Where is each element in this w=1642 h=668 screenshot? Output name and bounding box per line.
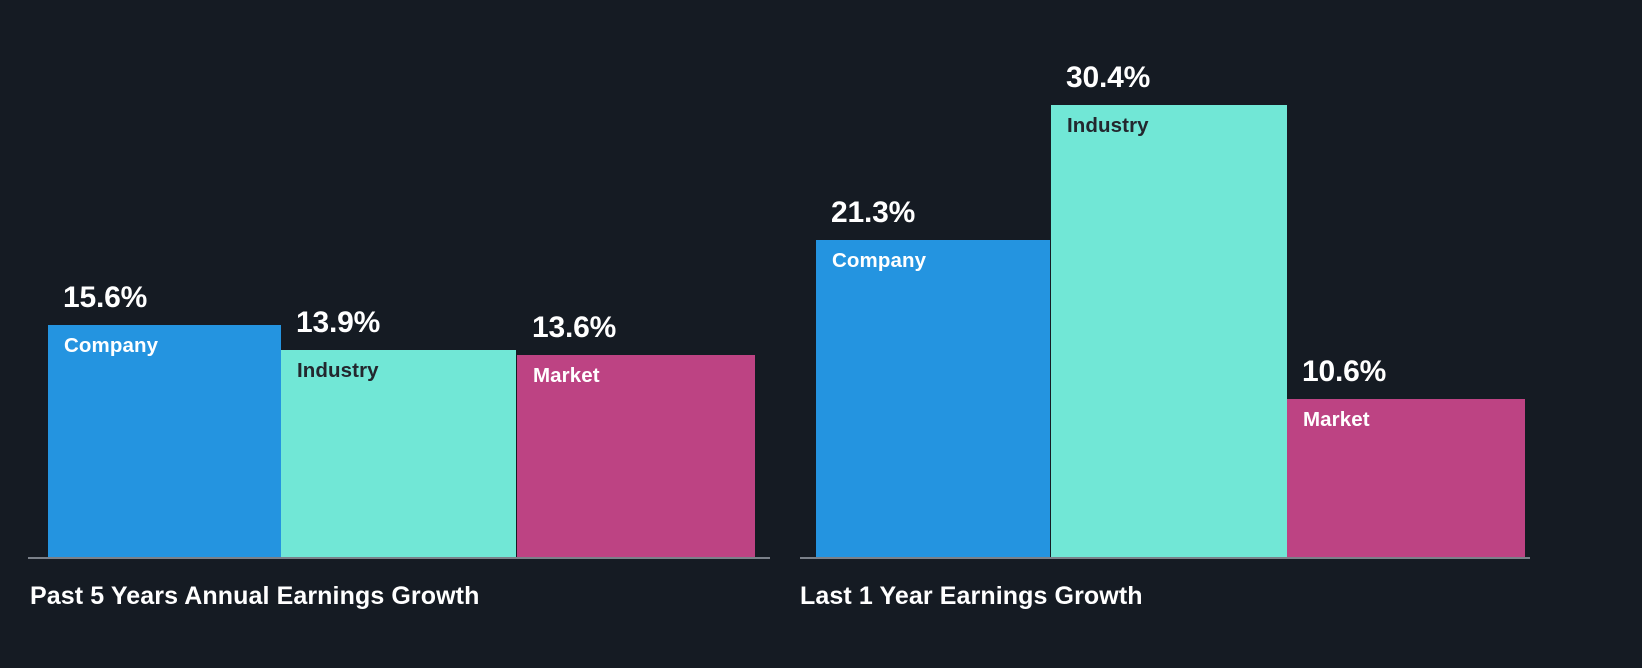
bar-group-past5-industry: 13.9% Industry xyxy=(281,350,516,557)
bar-value-label-last1-industry: 30.4% xyxy=(1066,63,1150,93)
bar-series-label-last1-company: Company xyxy=(832,251,926,272)
bar-past5-company[interactable]: Company xyxy=(48,325,281,557)
bar-past5-industry[interactable]: Industry xyxy=(281,350,516,557)
bar-last1-company[interactable]: Company xyxy=(816,240,1050,557)
chart-panel-last-1-year: 21.3% Company 30.4% Industry 10.6% Marke… xyxy=(800,0,1642,668)
bar-group-past5-market: 13.6% Market xyxy=(517,355,755,557)
bar-group-last1-company: 21.3% Company xyxy=(816,240,1050,557)
bar-series-label-last1-industry: Industry xyxy=(1067,116,1149,137)
bar-group-past5-company: 15.6% Company xyxy=(48,325,281,557)
plot-area-past-5-years: 15.6% Company 13.9% Industry 13.6% Marke… xyxy=(0,0,800,560)
bar-series-label-past5-industry: Industry xyxy=(297,361,379,382)
chart-title-last-1-year: Last 1 Year Earnings Growth xyxy=(800,582,1143,611)
bar-series-label-past5-market: Market xyxy=(533,366,600,387)
bar-value-label-last1-market: 10.6% xyxy=(1302,357,1386,387)
bar-group-last1-market: 10.6% Market xyxy=(1287,399,1525,557)
x-axis-line-last-1-year xyxy=(800,557,1530,559)
bar-value-label-past5-company: 15.6% xyxy=(63,283,147,313)
x-axis-line-past-5-years xyxy=(28,557,770,559)
bar-group-last1-industry: 30.4% Industry xyxy=(1051,105,1287,557)
bar-value-label-past5-industry: 13.9% xyxy=(296,308,380,338)
chart-panel-past-5-years: 15.6% Company 13.9% Industry 13.6% Marke… xyxy=(0,0,800,668)
bar-value-label-last1-company: 21.3% xyxy=(831,198,915,228)
bar-series-label-last1-market: Market xyxy=(1303,410,1370,431)
bar-past5-market[interactable]: Market xyxy=(517,355,755,557)
bar-last1-market[interactable]: Market xyxy=(1287,399,1525,557)
bar-series-label-past5-company: Company xyxy=(64,336,158,357)
bar-value-label-past5-market: 13.6% xyxy=(532,313,616,343)
earnings-growth-chart-canvas: 15.6% Company 13.9% Industry 13.6% Marke… xyxy=(0,0,1642,668)
plot-area-last-1-year: 21.3% Company 30.4% Industry 10.6% Marke… xyxy=(800,0,1642,560)
chart-title-past-5-years: Past 5 Years Annual Earnings Growth xyxy=(30,582,479,611)
bar-last1-industry[interactable]: Industry xyxy=(1051,105,1287,557)
